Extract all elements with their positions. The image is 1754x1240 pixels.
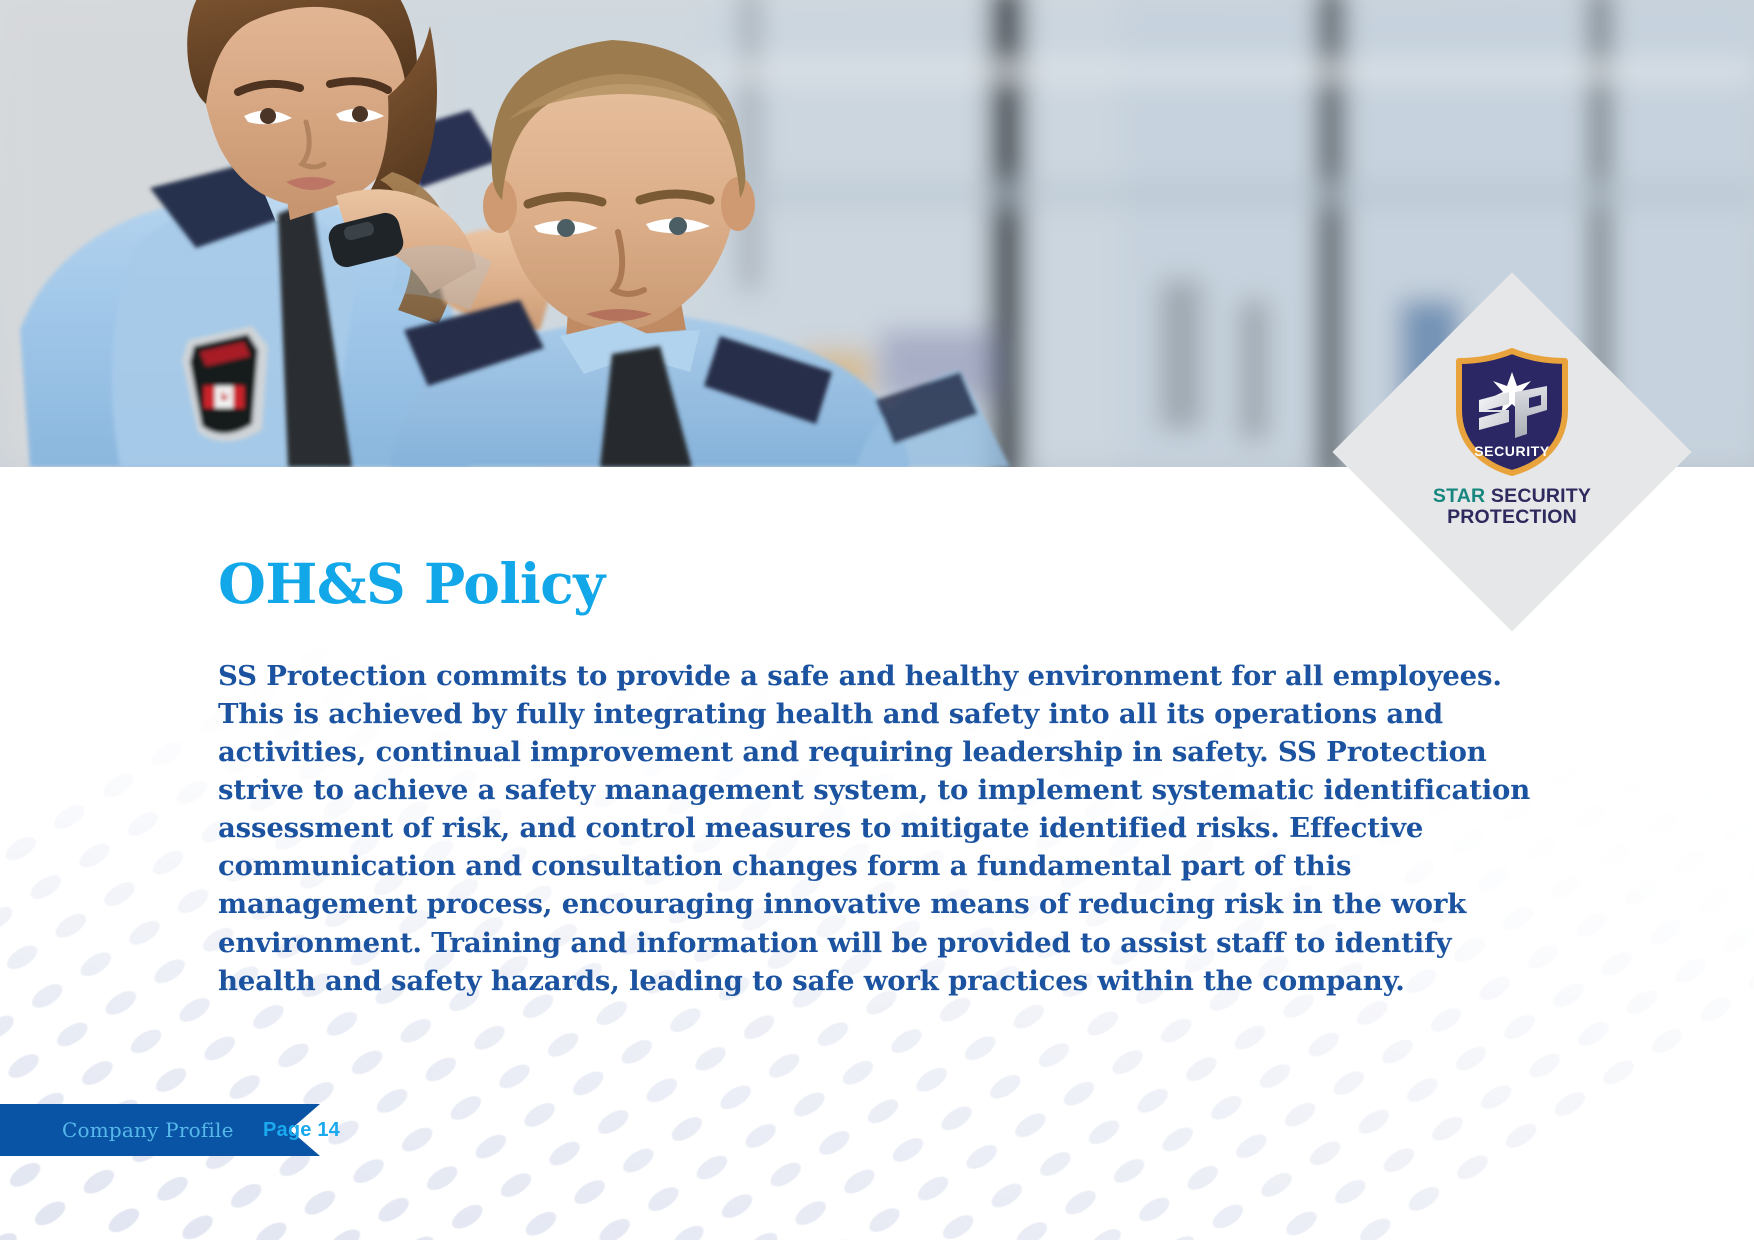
- footer-page-number: Page 14: [263, 1104, 340, 1156]
- logo-wordmark: STAR SECURITY PROTECTION: [1433, 486, 1591, 528]
- page-title: OH&S Policy: [218, 556, 1558, 611]
- brochure-page: SECURITY STAR SECURITY PROTECTION OH&S P…: [0, 0, 1754, 1240]
- logo-word-protection: PROTECTION: [1433, 507, 1591, 528]
- footer-company-profile-label: Company Profile: [62, 1104, 234, 1156]
- logo-word-security: SECURITY: [1491, 485, 1591, 507]
- shield-icon: SECURITY: [1451, 348, 1573, 476]
- shield-security-text: SECURITY: [1474, 443, 1550, 459]
- policy-body-text: SS Protection commits to provide a safe …: [218, 657, 1558, 1000]
- main-content: OH&S Policy SS Protection commits to pro…: [218, 556, 1558, 1000]
- logo-word-star: STAR: [1433, 485, 1485, 507]
- footer-ribbon: Company Profile Page 14: [0, 1104, 320, 1156]
